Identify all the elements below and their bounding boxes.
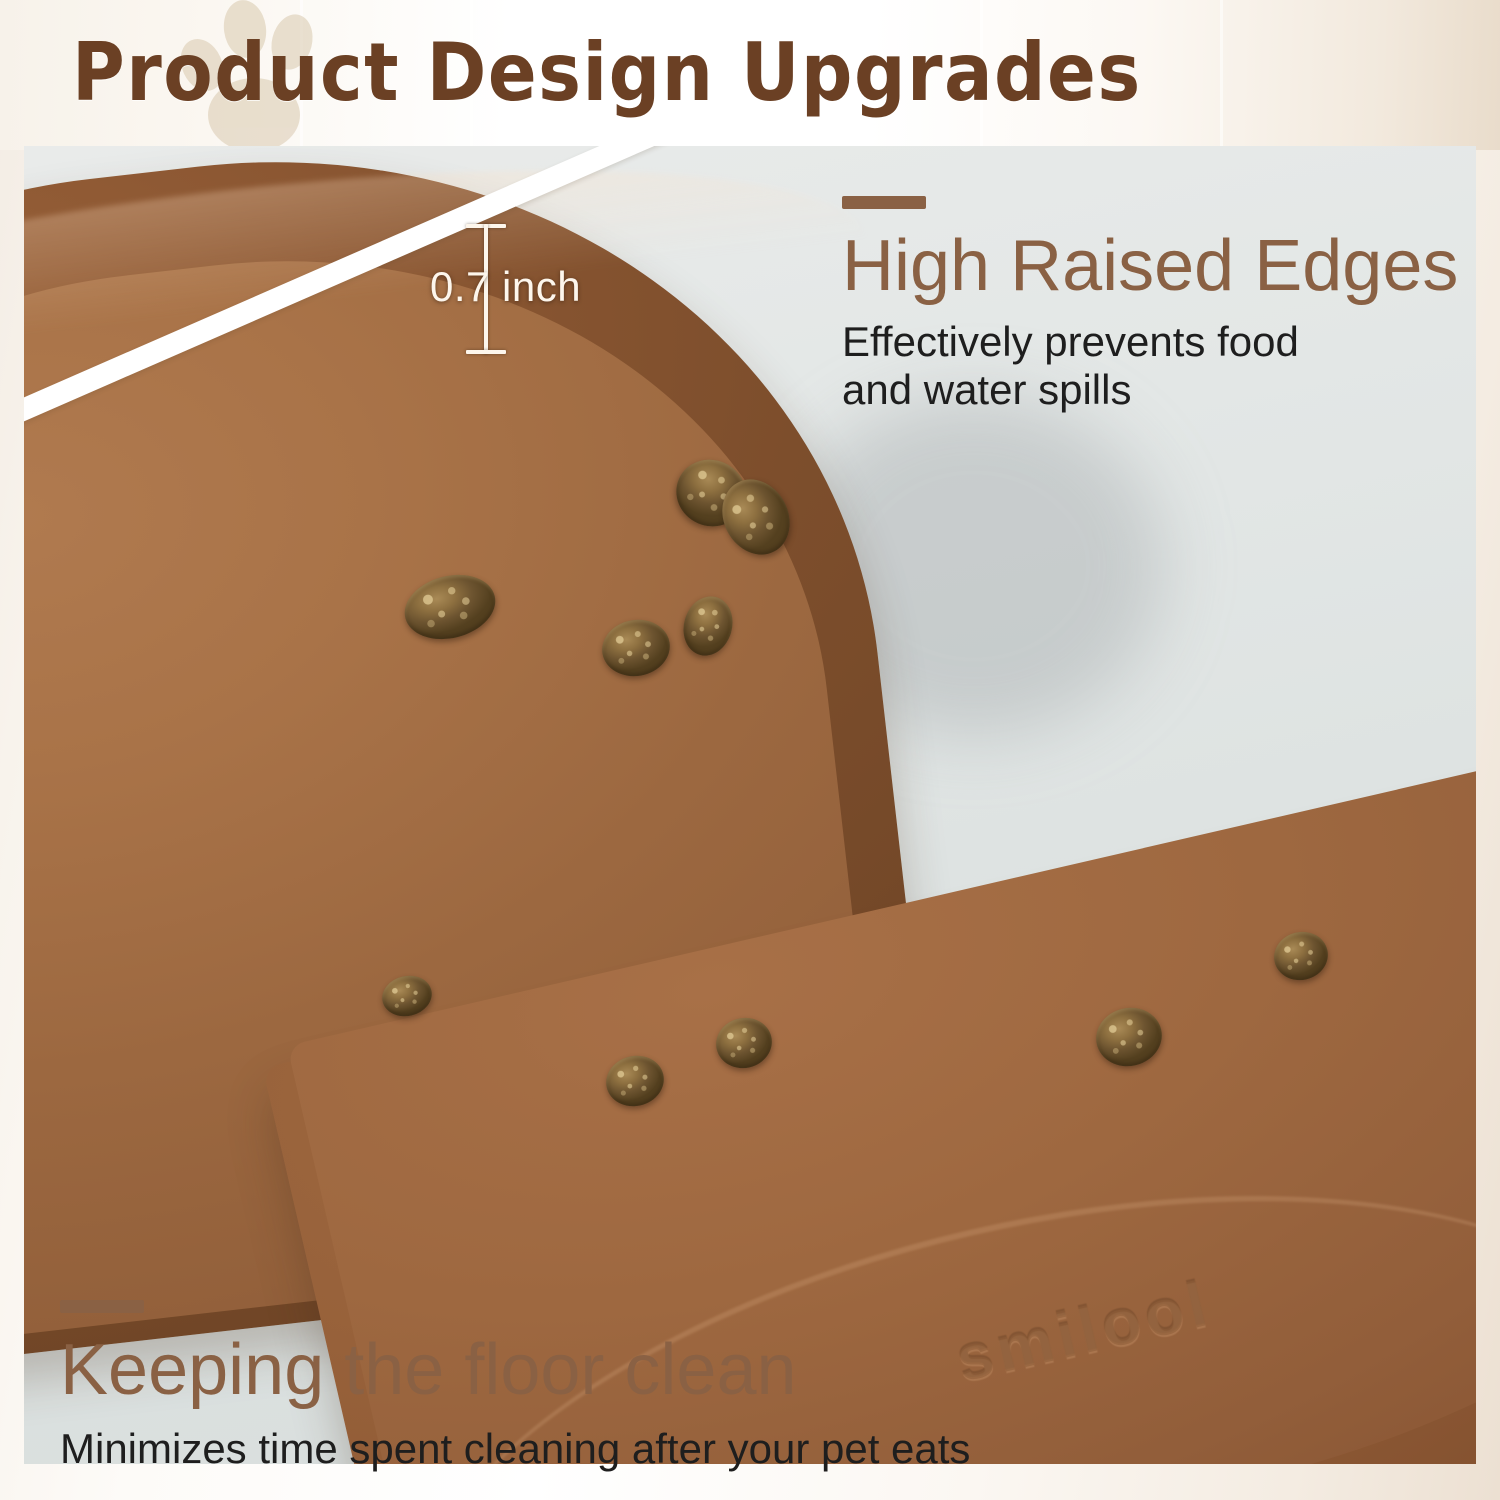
callout-subtitle-line2: and water spills xyxy=(842,366,1482,414)
dimension-label: 0.7 inch xyxy=(430,266,581,308)
callout-keeping-floor-clean: Keeping the floor clean Minimizes time s… xyxy=(60,1300,1240,1474)
callout-subtitle-line1: Effectively prevents food xyxy=(842,318,1482,366)
callout-high-raised-edges: High Raised Edges Effectively prevents f… xyxy=(842,196,1482,414)
callout-title: High Raised Edges xyxy=(842,226,1482,306)
callout-rule xyxy=(60,1300,144,1313)
callout-subtitle: Minimizes time spent cleaning after your… xyxy=(60,1424,1240,1474)
callout-title: Keeping the floor clean xyxy=(60,1330,1240,1410)
infographic-canvas: Product Design Upgrades xyxy=(0,0,1500,1500)
callout-rule xyxy=(842,196,926,209)
page-title: Product Design Upgrades xyxy=(72,18,1462,128)
header-banner: Product Design Upgrades xyxy=(0,0,1500,150)
